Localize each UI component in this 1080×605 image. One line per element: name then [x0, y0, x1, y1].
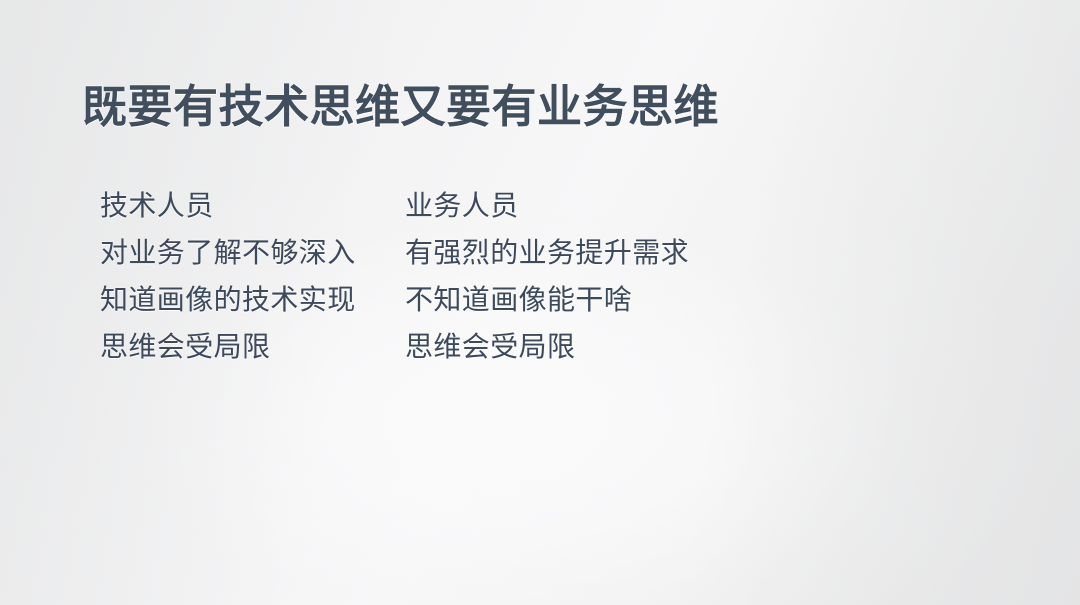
bullet-item: 思维会受局限 [405, 323, 735, 370]
page-title: 既要有技术思维又要有业务思维 [82, 80, 719, 133]
bullet-item: 知道画像的技术实现 [100, 276, 405, 323]
bullet-item: 思维会受局限 [100, 323, 405, 370]
two-column-content: 技术人员 对业务了解不够深入 知道画像的技术实现 思维会受局限 业务人员 有强烈… [100, 182, 735, 370]
bullet-item: 有强烈的业务提升需求 [405, 229, 735, 276]
column-technical-staff: 技术人员 对业务了解不够深入 知道画像的技术实现 思维会受局限 [100, 182, 405, 370]
column-business-staff: 业务人员 有强烈的业务提升需求 不知道画像能干啥 思维会受局限 [405, 182, 735, 370]
column-heading-business: 业务人员 [405, 182, 735, 229]
bullet-item: 不知道画像能干啥 [405, 276, 735, 323]
presentation-slide: 既要有技术思维又要有业务思维 技术人员 对业务了解不够深入 知道画像的技术实现 … [0, 0, 1080, 605]
column-heading-technical: 技术人员 [100, 182, 405, 229]
bullet-item: 对业务了解不够深入 [100, 229, 405, 276]
